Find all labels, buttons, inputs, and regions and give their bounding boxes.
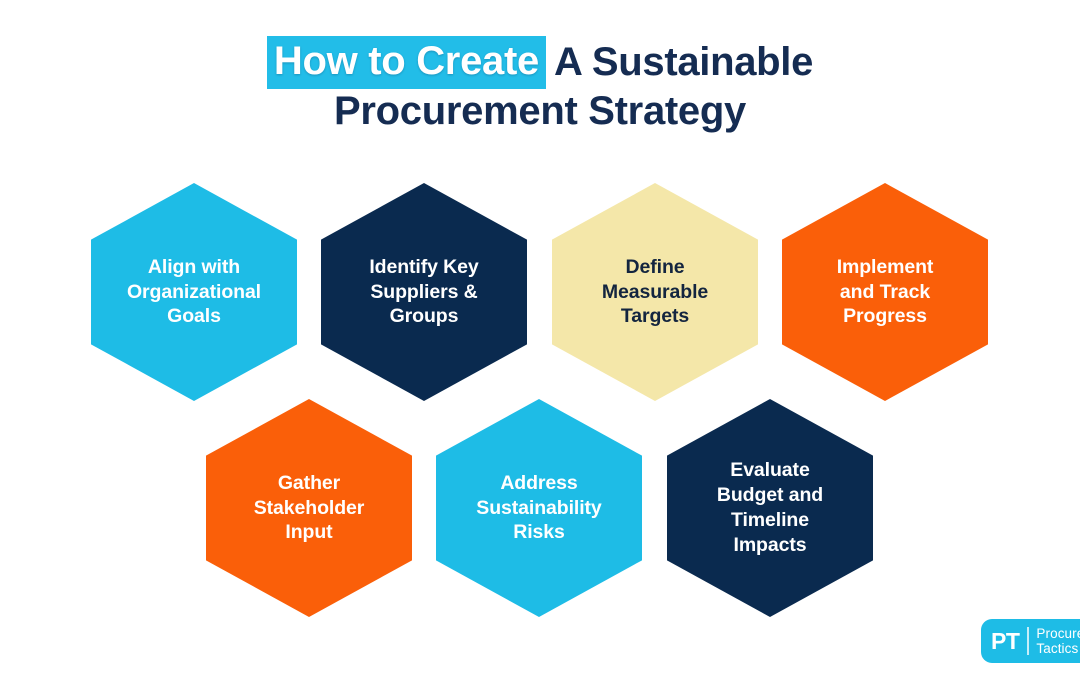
hexagon-label: Identify Key Suppliers & Groups [355, 255, 492, 330]
logo-word-bottom: Tactics [1036, 641, 1080, 656]
logo-word-top: Procurement [1036, 626, 1080, 641]
infographic-canvas: How to CreateA Sustainable Procurement S… [0, 0, 1080, 675]
logo-monogram: PT [981, 628, 1019, 655]
hexagon-label: Implement and Track Progress [823, 255, 948, 330]
title-line-2: Procurement Strategy [0, 91, 1080, 132]
hexagon-step-address-sustainability-risks[interactable]: Address Sustainability Risks [436, 399, 642, 617]
hexagon-step-evaluate-budget-and-timeline-impacts[interactable]: Evaluate Budget and Timeline Impacts [667, 399, 873, 617]
title-line-2-text: Procurement Strategy [334, 91, 746, 132]
title-highlight-text: How to Create [267, 36, 546, 89]
logo-wordmark: Procurement Tactics [1036, 626, 1080, 656]
brand-logo[interactable]: PT Procurement Tactics [981, 619, 1080, 663]
hexagon-label: Gather Stakeholder Input [240, 471, 379, 546]
hexagon-step-define-measurable-targets[interactable]: Define Measurable Targets [552, 183, 758, 401]
logo-divider [1027, 627, 1029, 655]
hexagon-label: Evaluate Budget and Timeline Impacts [703, 458, 837, 558]
title-line-1: How to CreateA Sustainable [0, 36, 1080, 89]
hexagon-step-implement-and-track-progress[interactable]: Implement and Track Progress [782, 183, 988, 401]
page-title: How to CreateA Sustainable Procurement S… [0, 36, 1080, 132]
title-plain-text: A Sustainable [546, 42, 813, 83]
hexagon-step-identify-key-suppliers-and-groups[interactable]: Identify Key Suppliers & Groups [321, 183, 527, 401]
hexagon-label: Define Measurable Targets [588, 255, 722, 330]
hexagon-step-align-with-organizational-goals[interactable]: Align with Organizational Goals [91, 183, 297, 401]
hexagon-label: Address Sustainability Risks [462, 471, 615, 546]
hexagon-step-gather-stakeholder-input[interactable]: Gather Stakeholder Input [206, 399, 412, 617]
hexagon-label: Align with Organizational Goals [113, 255, 275, 330]
